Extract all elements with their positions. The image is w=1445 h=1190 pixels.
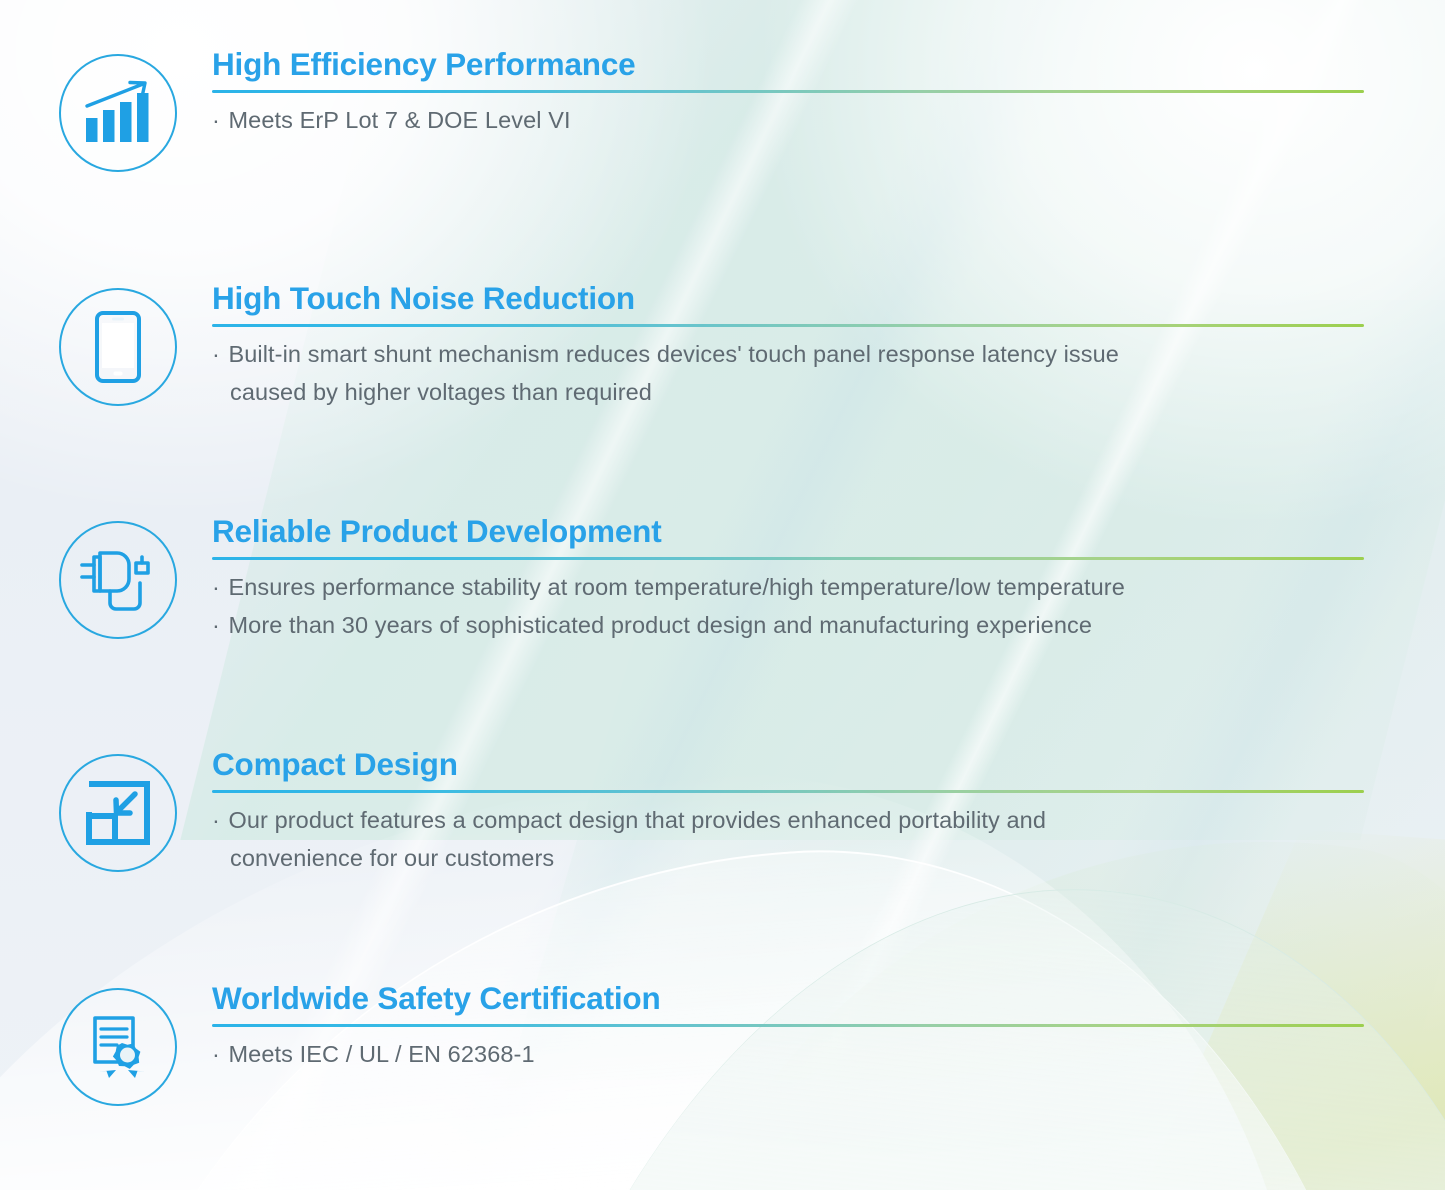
feature-item-compact-design: Compact Design · Our product features a … [55,748,1385,878]
feature-title: High Touch Noise Reduction [212,282,1385,315]
feature-title: Compact Design [212,748,1385,781]
feature-text-block: Worldwide Safety Certification · Meets I… [180,982,1385,1073]
feature-text-block: Reliable Product Development · Ensures p… [180,515,1385,645]
smartphone-icon [59,288,177,406]
feature-body: · Built-in smart shunt mechanism reduces… [212,335,1385,411]
feature-text-block: High Efficiency Performance · Meets ErP … [180,48,1385,139]
feature-divider [212,324,1364,327]
feature-title: Reliable Product Development [212,515,1385,548]
feature-title: High Efficiency Performance [212,48,1385,81]
compact-resize-icon [59,754,177,872]
feature-icon-wrap [55,282,180,406]
feature-bullet-continuation: convenience for our customers [212,839,1385,877]
feature-icon-wrap [55,515,180,639]
bullet-text: Built-in smart shunt mechanism reduces d… [228,341,1118,367]
feature-divider [212,90,1364,93]
bar-chart-growth-icon [59,54,177,172]
bullet-marker: · [212,107,222,133]
bullet-text: Meets ErP Lot 7 & DOE Level VI [228,107,570,133]
feature-divider [212,790,1364,793]
bullet-text: Ensures performance stability at room te… [228,574,1124,600]
bullet-marker: · [212,341,222,367]
feature-item-high-touch-noise-reduction: High Touch Noise Reduction · Built-in sm… [55,282,1385,412]
feature-bullet-line: · Meets ErP Lot 7 & DOE Level VI [212,101,1385,139]
bullet-text: More than 30 years of sophisticated prod… [228,612,1092,638]
feature-text-block: Compact Design · Our product features a … [180,748,1385,878]
bullet-marker: · [212,1041,222,1067]
feature-bullet-line: · More than 30 years of sophisticated pr… [212,606,1385,644]
feature-divider [212,557,1364,560]
feature-body: · Meets ErP Lot 7 & DOE Level VI [212,101,1385,139]
feature-bullet-line: · Built-in smart shunt mechanism reduces… [212,335,1385,373]
feature-bullet-line: · Meets IEC / UL / EN 62368-1 [212,1035,1385,1073]
bullet-marker: · [212,574,222,600]
feature-bullet-line: · Ensures performance stability at room … [212,568,1385,606]
feature-list: High Efficiency Performance · Meets ErP … [0,0,1445,1190]
bullet-marker: · [212,612,222,638]
feature-divider [212,1024,1364,1027]
feature-item-reliable-product-development: Reliable Product Development · Ensures p… [55,515,1385,645]
feature-title: Worldwide Safety Certification [212,982,1385,1015]
feature-bullet-line: · Our product features a compact design … [212,801,1385,839]
feature-icon-wrap [55,48,180,172]
feature-item-high-efficiency-performance: High Efficiency Performance · Meets ErP … [55,48,1385,172]
feature-item-worldwide-safety-certification: Worldwide Safety Certification · Meets I… [55,982,1385,1106]
feature-icon-wrap [55,982,180,1106]
feature-highlights-slide: High Efficiency Performance · Meets ErP … [0,0,1445,1190]
bullet-marker: · [212,807,222,833]
feature-bullet-continuation: caused by higher voltages than required [212,373,1385,411]
feature-body: · Meets IEC / UL / EN 62368-1 [212,1035,1385,1073]
bullet-text: Our product features a compact design th… [228,807,1046,833]
feature-icon-wrap [55,748,180,872]
power-adapter-icon [59,521,177,639]
bullet-text: Meets IEC / UL / EN 62368-1 [228,1041,534,1067]
certificate-seal-icon [59,988,177,1106]
feature-body: · Ensures performance stability at room … [212,568,1385,644]
feature-text-block: High Touch Noise Reduction · Built-in sm… [180,282,1385,412]
feature-body: · Our product features a compact design … [212,801,1385,877]
